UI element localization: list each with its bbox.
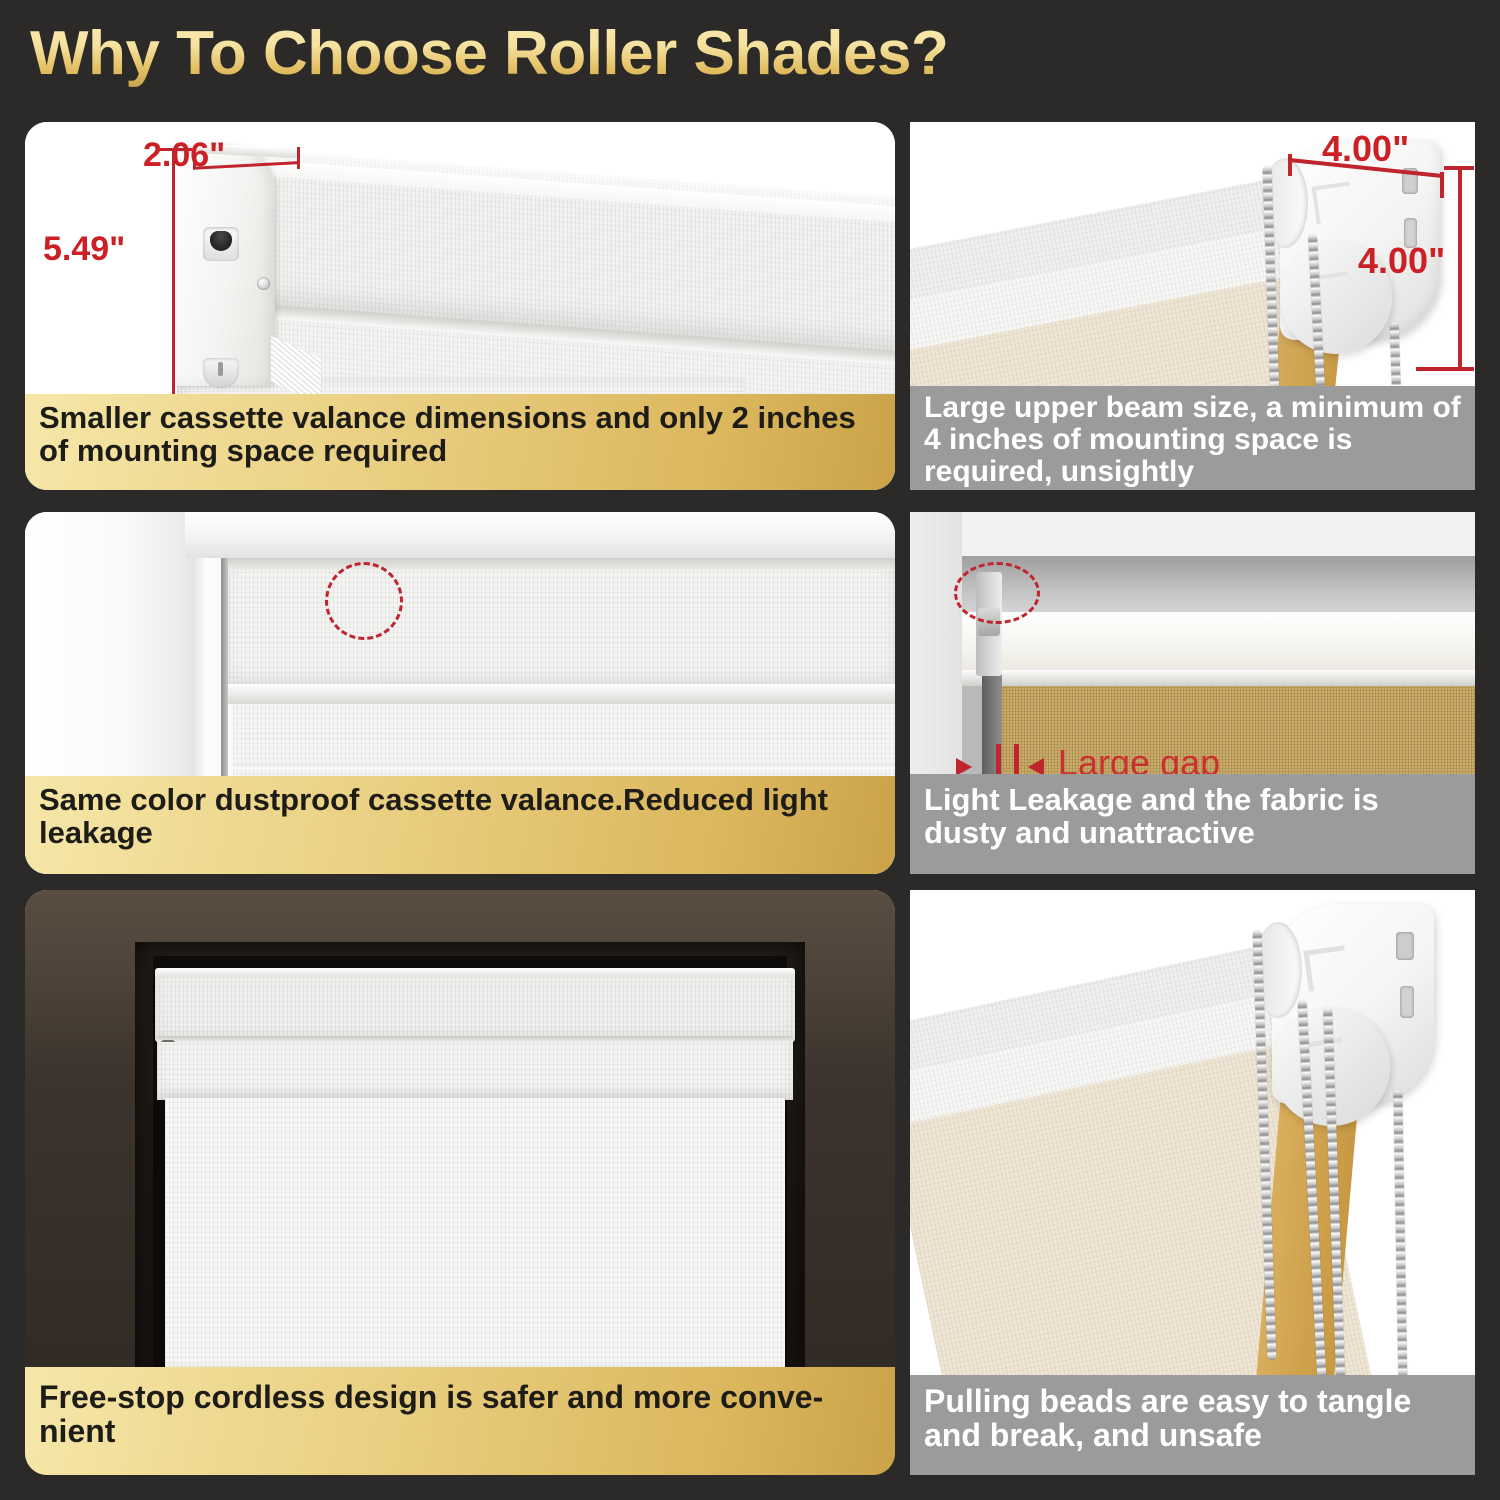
beads-bracket-slot-mid [1400,986,1414,1018]
cassette-valance-face [225,570,895,688]
panel-caption-con-beads: Pulling beads are easy to tangle and bre… [910,1375,1475,1475]
beam-width-tick-right [1440,172,1444,198]
panel-pro-small-gap: smaller gap Same color dustproof cassett… [25,512,895,874]
cassette-valance-skirt [157,1042,793,1100]
wall-background [910,512,1475,556]
large-gap-highlight-circle [954,562,1040,624]
beam-height-tick-bottom [1416,367,1474,371]
height-dimension-tick-top [158,148,192,151]
cordless-shade-fabric [165,1098,785,1398]
infographic-page: Why To Choose Roller Shades? [0,0,1500,1500]
shade-fabric-seam [233,764,895,769]
panel-con-beads: Pulling beads are easy to tangle and bre… [910,890,1475,1475]
beam-height-tick-top [1444,166,1474,170]
cassette-headrail-top-edge [155,968,795,978]
beam-height-dimension-label: 4.00" [1358,240,1445,282]
panel-con-beam-size: 4.00" 4.00" Large upper beam size, a min… [910,122,1475,490]
width-dimension-label: 2.06" [143,136,225,175]
cassette-valance-lip [225,684,895,704]
panel-caption-pro-cassette-size: Smaller cassette valance dimensions and … [25,394,895,490]
end-cap-screw-upper [257,277,270,290]
small-gap-highlight-circle [325,562,403,640]
panel-pro-cassette-size: 2.06" 5.49" Smaller cassette valance dim… [25,122,895,490]
end-cap-lower-knob-pin [218,362,223,376]
window-frame-head [185,512,895,558]
width-dimension-tick-right [297,147,300,169]
panel-caption-pro-small-gap: Same color dustproof cassette valance.Re… [25,776,895,874]
panel-pro-cordless: Free-stop cordless design is safer and m… [25,890,895,1475]
height-dimension-label: 5.49" [43,230,125,269]
page-title: Why To Choose Roller Shades? [30,18,948,89]
panel-con-large-gap: Large gap Light Leakage and the fabric i… [910,512,1475,874]
cassette-end-cap [175,144,275,386]
beam-width-dimension-label: 4.00" [1322,128,1409,170]
beam-height-dimension-line [1458,166,1462,371]
beam-width-tick-left [1288,154,1292,176]
panel-caption-pro-cordless: Free-stop cordless design is safer and m… [25,1367,895,1475]
bracket-emboss-upper [1312,182,1355,225]
panel-caption-con-beam-size: Large upper beam size, a minimum of 4 in… [910,386,1475,490]
headrail-valance-face [962,612,1475,674]
beads-bracket-emboss-upper [1303,945,1349,991]
height-dimension-line [172,148,175,400]
bead-chain-4[interactable] [1393,1090,1407,1400]
beads-bracket-slot-top [1396,932,1414,960]
cordless-cassette-headrail [155,970,795,1042]
panel-caption-con-large-gap: Light Leakage and the fabric is dusty an… [910,774,1475,874]
headrail-bottom-lip [962,670,1475,686]
